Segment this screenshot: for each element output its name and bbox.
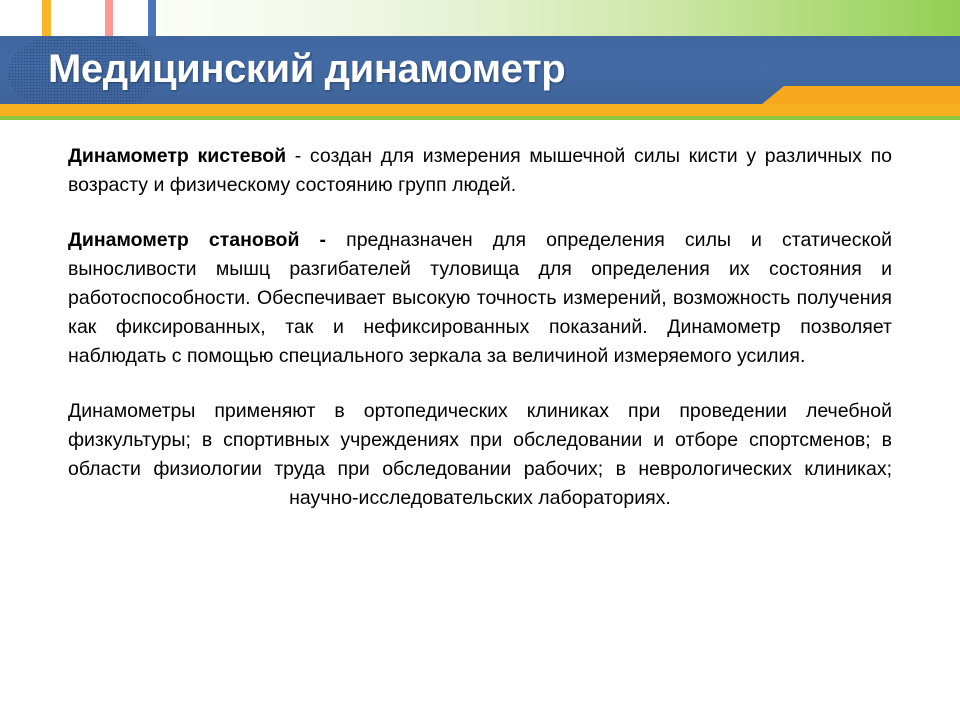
paragraph1-lead-term: Динамометр кистевой: [68, 145, 286, 167]
paragraph-applications: Динамометры применяют в ортопедических к…: [68, 397, 892, 513]
paragraph2-lead-term: Динамометр становой -: [68, 229, 346, 251]
green-divider-bar: [0, 116, 960, 120]
slide-title: Медицинский динамометр: [48, 41, 565, 97]
green-gradient-band: [155, 0, 960, 36]
paragraph-back-dynamometer: Динамометр становой - предназначен для о…: [68, 226, 892, 371]
orange-wedge-decoration: [762, 86, 960, 104]
orange-divider-bar: [0, 104, 960, 116]
pink-stripe-accent: [105, 0, 113, 36]
presentation-slide: Медицинский динамометр Динамометр кистев…: [0, 0, 960, 720]
top-decorative-band: [0, 0, 960, 36]
slide-body: Динамометр кистевой - создан для измерен…: [68, 142, 892, 513]
blue-stripe-accent: [148, 0, 156, 36]
paragraph-hand-dynamometer: Динамометр кистевой - создан для измерен…: [68, 142, 892, 200]
orange-stripe-accent: [42, 0, 51, 36]
